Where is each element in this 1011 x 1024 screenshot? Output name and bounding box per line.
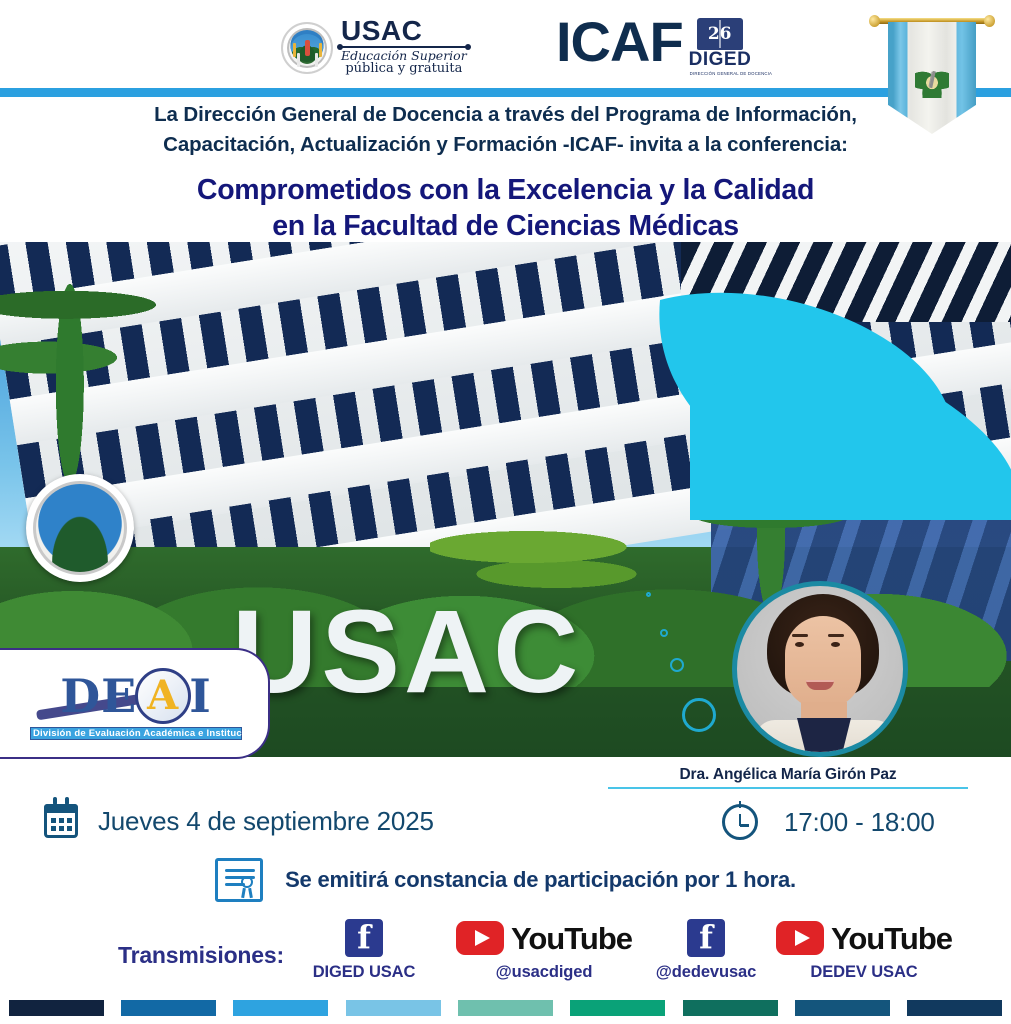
usac-campus-seal-icon (26, 474, 134, 582)
guatemala-flag-banner-icon (874, 10, 990, 140)
decorative-circle (670, 658, 684, 672)
avatar-brow (792, 634, 808, 637)
speaker-block: Dra. Angélica María Girón Paz (598, 766, 978, 789)
deai-glass-lens: A (135, 668, 191, 724)
usac-seal-icon (281, 22, 333, 74)
flag-cloth (888, 22, 976, 134)
certificate-ribbon (241, 888, 253, 898)
facebook-icon[interactable] (345, 919, 383, 957)
transmissions-label: Transmisiones: (118, 942, 284, 969)
usac-divider (341, 46, 467, 48)
channel-handle: DIGED USAC (264, 963, 464, 982)
icaf-logo: ICAF 26 DIGED DIRECCIÓN GENERAL DE DOCEN… (556, 14, 751, 76)
footer-bar-slot (449, 1000, 561, 1016)
avatar-eye (831, 642, 840, 647)
youtube-play-badge (456, 921, 504, 955)
intro-line-1: La Dirección General de Docencia a travé… (70, 100, 941, 130)
avatar-face (785, 616, 861, 708)
footer-bar-4 (346, 1000, 441, 1016)
footer-bar-1 (9, 1000, 104, 1016)
channel-icon-wrap: YouTube (764, 918, 964, 958)
conference-title-line-2: en la Facultad de Ciencias Médicas (0, 208, 1011, 244)
decorative-circle (660, 629, 668, 637)
deai-logo: DE A I División de Evaluación Académica … (30, 668, 242, 740)
footer-bar-9 (907, 1000, 1002, 1016)
deai-wordmark: DE A I (30, 668, 242, 724)
event-date-group: Jueves 4 de septiembre 2025 (44, 804, 434, 838)
channel-youtube-dedev-usac[interactable]: YouTube DEDEV USAC (764, 918, 964, 982)
certificate-row: Se emitirá constancia de participación p… (0, 858, 1011, 902)
certificate-text-line (225, 869, 255, 872)
diged-anniversary-number: 26 (708, 26, 732, 43)
avatar-brow (828, 634, 844, 637)
usac-wordmark: USAC (341, 18, 467, 45)
usac-monument-letters: USAC (232, 593, 582, 711)
clock-icon (722, 804, 758, 840)
footer-bar-slot (562, 1000, 674, 1016)
conference-title: Comprometidos con la Excelencia y la Cal… (0, 172, 1011, 245)
usac-logo: USAC Educación Superior pública y gratui… (281, 18, 467, 77)
diged-tagline: DIRECCIÓN GENERAL DE DOCENCIA (689, 71, 750, 76)
speaker-avatar (732, 581, 908, 757)
clock-top-nub (739, 801, 742, 808)
decorative-circle (646, 592, 651, 597)
deai-logo-panel: DE A I División de Evaluación Académica … (0, 648, 270, 759)
event-time-group: 17:00 - 18:00 (722, 804, 935, 840)
avatar-eye (795, 642, 804, 647)
footer-bar-6 (570, 1000, 665, 1016)
speaker-name: Dra. Angélica María Girón Paz (598, 766, 978, 784)
footer-bar-slot (225, 1000, 337, 1016)
footer-bar-2 (121, 1000, 216, 1016)
diged-logo: 26 DIGED DIRECCIÓN GENERAL DE DOCENCIA (689, 14, 751, 76)
header: USAC Educación Superior pública y gratui… (0, 0, 1011, 88)
calendar-icon (44, 804, 78, 838)
conference-flyer: USAC Educación Superior pública y gratui… (0, 0, 1011, 1024)
usac-tagline-2: pública y gratuita (341, 62, 467, 77)
transmissions-row: Transmisiones: DIGED USAC YouTube @usacd… (0, 918, 1011, 988)
footer-bar-8 (795, 1000, 890, 1016)
youtube-wordmark: YouTube (831, 923, 952, 954)
footer-bar-slot (0, 1000, 112, 1016)
footer-bar-slot (337, 1000, 449, 1016)
channel-facebook-diged-usac[interactable]: DIGED USAC (264, 918, 464, 982)
calendar-ring (53, 797, 57, 805)
footer-bar-3 (233, 1000, 328, 1016)
channel-icon-wrap (264, 918, 464, 958)
event-details-row: Jueves 4 de septiembre 2025 17:00 - 18:0… (0, 800, 1011, 860)
decorative-circle (682, 698, 716, 732)
deai-subtitle: División de Evaluación Académica e Insti… (30, 727, 242, 740)
palm-tree (0, 252, 180, 492)
deai-letter-a: A (147, 676, 179, 716)
footer-bar-slot (899, 1000, 1011, 1016)
event-time: 17:00 - 18:00 (784, 807, 935, 838)
deai-letters-left: DE (60, 673, 137, 719)
event-date: Jueves 4 de septiembre 2025 (98, 806, 434, 837)
certificate-seal (241, 876, 253, 888)
diged-book-icon: 26 (697, 18, 743, 50)
certificate-text: Se emitirá constancia de participación p… (285, 867, 796, 893)
channel-handle: DEDEV USAC (764, 963, 964, 982)
magnifying-glass-icon: A (135, 668, 191, 724)
usac-tagline-1: Educación Superior (341, 49, 467, 63)
deai-letters-right: I (189, 673, 212, 719)
youtube-icon[interactable]: YouTube (776, 921, 952, 955)
intro-line-2: Capacitación, Actualización y Formación … (70, 130, 941, 160)
diged-wordmark: DIGED (689, 50, 751, 71)
intro-text: La Dirección General de Docencia a travé… (0, 100, 1011, 159)
calendar-ring (65, 797, 69, 805)
header-rule (0, 88, 1011, 97)
footer-bar-slot (786, 1000, 898, 1016)
footer-bar-slot (674, 1000, 786, 1016)
facebook-icon[interactable] (687, 919, 725, 957)
youtube-play-badge (776, 921, 824, 955)
conference-title-line-1: Comprometidos con la Excelencia y la Cal… (0, 172, 1011, 208)
speaker-underline (608, 787, 968, 789)
footer-bar-slot (112, 1000, 224, 1016)
footer-bar-5 (458, 1000, 553, 1016)
icaf-wordmark: ICAF (556, 14, 683, 70)
certificate-icon (215, 858, 263, 902)
footer-color-bars (0, 1000, 1011, 1024)
footer-bar-7 (683, 1000, 778, 1016)
guatemala-coat-of-arms-icon (915, 64, 949, 98)
